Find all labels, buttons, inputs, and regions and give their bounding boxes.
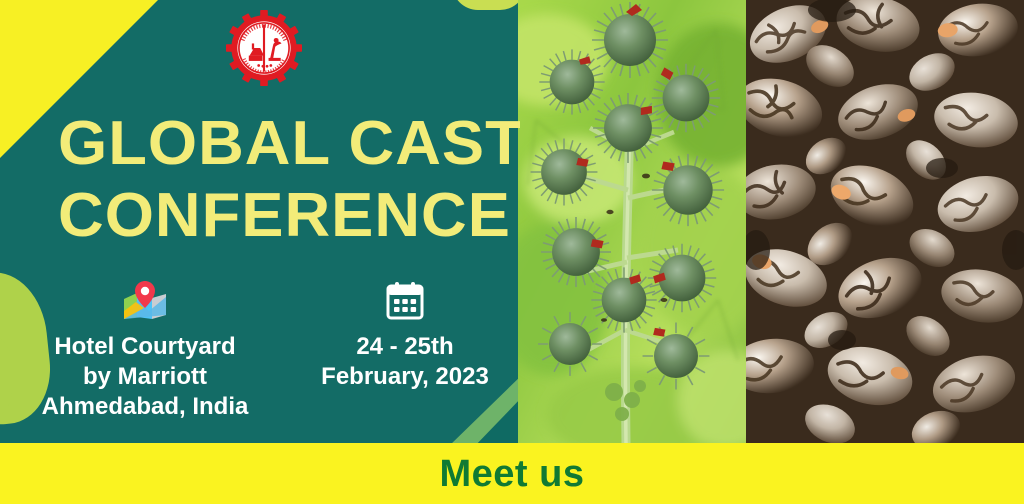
gear-emblem-logo-icon [226, 8, 302, 88]
map-pin-icon [122, 278, 168, 324]
date-block: 24 - 25th February, 2023 [290, 278, 520, 422]
conference-banner: GLOBAL CASTOR CONFERENCE 2023 [0, 0, 1024, 504]
footer-bar: Meet us [0, 443, 1024, 504]
calendar-icon [385, 278, 425, 324]
venue-block: Hotel Courtyard by Marriott Ahmedabad, I… [0, 278, 290, 422]
venue-text: Hotel Courtyard by Marriott Ahmedabad, I… [42, 332, 249, 422]
castor-plant-photo [518, 0, 746, 443]
event-title: GLOBAL CASTOR CONFERENCE 2023 [58, 108, 508, 252]
top-arc-decoration [452, 0, 520, 10]
venue-line-1: Hotel Courtyard [42, 332, 249, 362]
date-text: 24 - 25th February, 2023 [321, 332, 489, 392]
castor-seeds-photo [746, 0, 1024, 443]
meet-us-label: Meet us [440, 454, 585, 494]
date-line-1: 24 - 25th [321, 332, 489, 362]
venue-line-2: by Marriott [42, 362, 249, 392]
event-details-row: Hotel Courtyard by Marriott Ahmedabad, I… [0, 278, 520, 422]
green-info-panel: GLOBAL CASTOR CONFERENCE 2023 [0, 0, 520, 443]
event-title-line-1: GLOBAL CASTOR [58, 108, 517, 180]
venue-line-3: Ahmedabad, India [42, 392, 249, 422]
date-line-2: February, 2023 [321, 362, 489, 392]
event-title-line-2: CONFERENCE 2023 [58, 180, 517, 252]
